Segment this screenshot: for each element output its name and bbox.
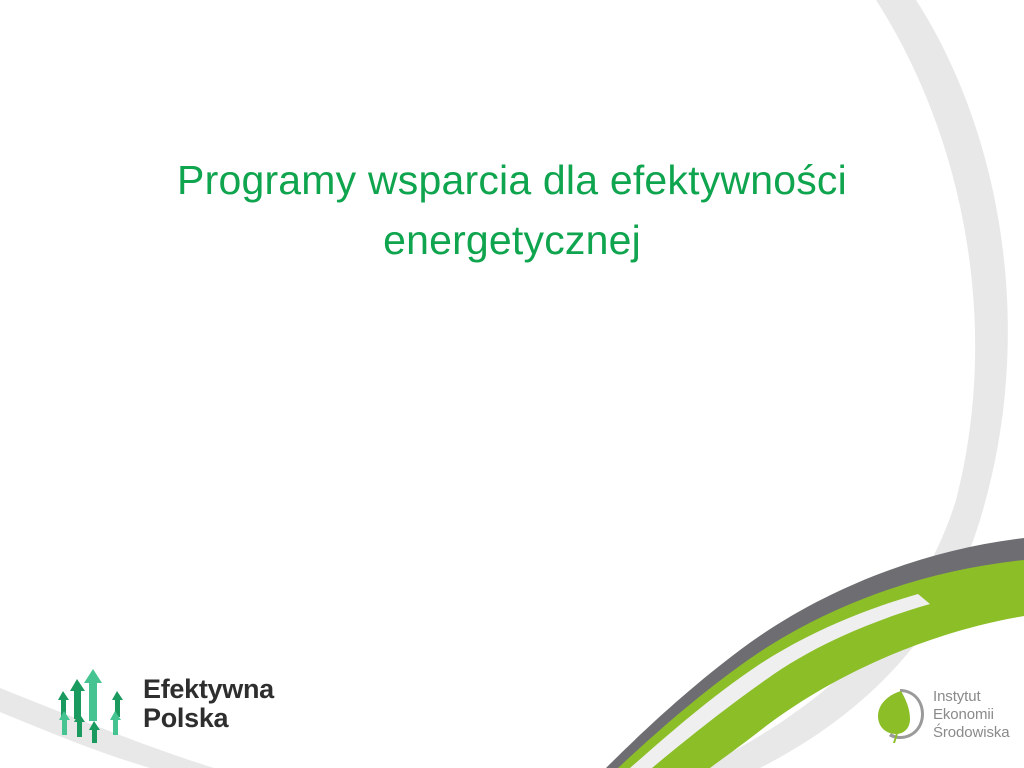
logo-instytut-ekonomii-srodowiska: Instytut Ekonomii Środowiska: [872, 686, 1010, 744]
logo-ies-wordmark: Instytut Ekonomii Środowiska: [933, 688, 1010, 741]
title-line-2: energetycznej: [112, 210, 912, 270]
slide-title: Programy wsparcia dla efektywności energ…: [112, 150, 912, 270]
logo-ies-word-3: Środowiska: [933, 724, 1010, 742]
leaf-shape: [878, 691, 910, 734]
arrow-lower-left: [59, 711, 70, 735]
title-line-1: Programy wsparcia dla efektywności: [112, 150, 912, 210]
arrow-center: [84, 669, 102, 721]
slide-canvas: Programy wsparcia dla efektywności energ…: [0, 0, 1024, 768]
top-right-light-gray-arc: [700, 0, 1008, 768]
logo-ep-word-1: Efektywna: [143, 675, 274, 704]
logo-ies-word-1: Instytut: [933, 688, 1010, 706]
arrow-mid-left: [70, 679, 85, 719]
arrow-outer-right: [112, 691, 123, 717]
logo-ep-word-2: Polska: [143, 704, 274, 733]
arrow-lower-center: [89, 721, 100, 743]
upward-arrows-icon: [57, 665, 129, 743]
leaf-in-circle-icon: [872, 686, 926, 744]
logo-ies-word-2: Ekonomii: [933, 706, 1010, 724]
logo-efektywna-polska: Efektywna Polska: [57, 665, 274, 743]
logo-efektywna-polska-wordmark: Efektywna Polska: [143, 675, 274, 733]
decorative-background: [0, 0, 1024, 768]
